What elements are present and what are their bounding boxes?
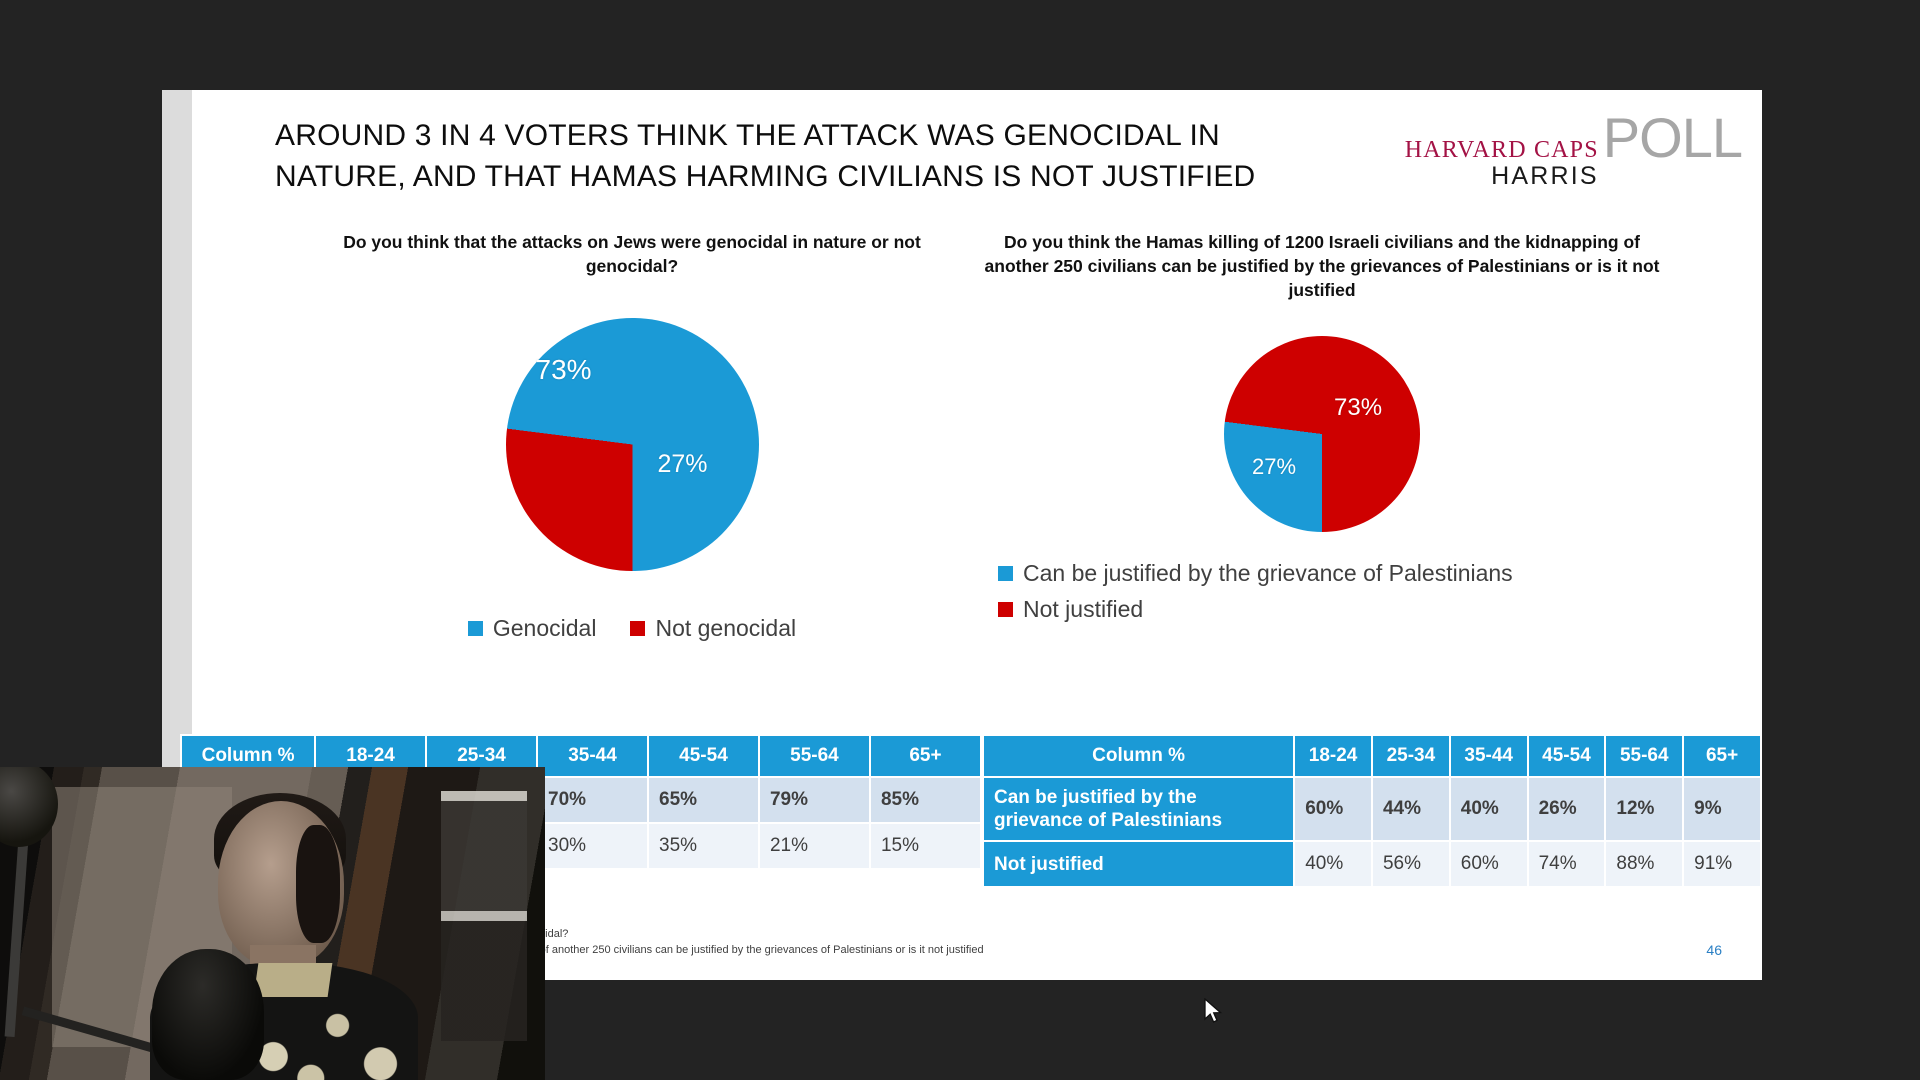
table-cell: 91% — [1683, 841, 1761, 887]
webcam-person-collar — [254, 963, 333, 997]
table-cell: 60% — [1450, 841, 1528, 887]
webcam-video-overlay[interactable] — [0, 767, 545, 1080]
table-header-18-24: 18-24 — [1294, 735, 1372, 777]
pie-slice-label-not-genocidal: 27% — [658, 450, 708, 479]
table-header-65-plus: 65+ — [1683, 735, 1761, 777]
pie-slice-label-not-justified: 73% — [1334, 394, 1382, 422]
legend-label-genocidal: Genocidal — [493, 615, 597, 642]
logo-poll-text: POLL — [1603, 112, 1742, 164]
table-cell: 30% — [537, 823, 648, 869]
page-title: AROUND 3 IN 4 VOTERS THINK THE ATTACK WA… — [275, 115, 1335, 197]
table-cell: 40% — [1294, 841, 1372, 887]
table-cell: 85% — [870, 777, 981, 823]
table-cell: 60% — [1294, 777, 1372, 841]
legend-swatch-red-icon — [630, 621, 645, 636]
harvard-caps-harris-poll-logo: HARVARD CAPS HARRIS POLL — [1405, 112, 1742, 191]
table-header-column-pct: Column % — [983, 735, 1294, 777]
logo-harris-text: HARRIS — [1491, 162, 1599, 191]
legend-swatch-red-icon — [998, 602, 1013, 617]
table-header-45-54: 45-54 — [648, 735, 759, 777]
table-cell: 70% — [537, 777, 648, 823]
legend-swatch-blue-icon — [468, 621, 483, 636]
table-cell: 26% — [1528, 777, 1606, 841]
table-cell-rowlabel: Not justified — [983, 841, 1294, 887]
table-header-25-34: 25-34 — [1372, 735, 1450, 777]
table-cell: 15% — [870, 823, 981, 869]
legend-item-can-be-justified[interactable]: Can be justified by the grievance of Pal… — [998, 560, 1672, 587]
slide-page-number: 46 — [1706, 942, 1722, 958]
table-row: Not justified 40% 56% 60% 74% 88% 91% — [983, 841, 1761, 887]
breakdown-table-justified: Column % 18-24 25-34 35-44 45-54 55-64 6… — [982, 734, 1762, 888]
pie-genocidal-graphic: 73% 27% — [506, 318, 759, 571]
legend-label-not-justified: Not justified — [1023, 596, 1143, 623]
chart-question-genocidal: Do you think that the attacks on Jews we… — [302, 230, 962, 278]
webcam-microphone — [152, 949, 264, 1080]
logo-harvard-caps-text: HARVARD CAPS — [1405, 137, 1599, 164]
legend-genocidal: Genocidal Not genocidal — [302, 615, 962, 642]
table-header-45-54: 45-54 — [1528, 735, 1606, 777]
table-cell: 9% — [1683, 777, 1761, 841]
table-header-row: Column % 18-24 25-34 35-44 45-54 55-64 6… — [983, 735, 1761, 777]
legend-item-not-justified[interactable]: Not justified — [998, 596, 1672, 623]
table-header-65-plus: 65+ — [870, 735, 981, 777]
chart-question-justified: Do you think the Hamas killing of 1200 I… — [972, 230, 1672, 302]
table-header-55-64: 55-64 — [759, 735, 870, 777]
chart-panel-justified: Do you think the Hamas killing of 1200 I… — [972, 230, 1672, 623]
table-cell: 56% — [1372, 841, 1450, 887]
table-cell: 79% — [759, 777, 870, 823]
table-cell: 21% — [759, 823, 870, 869]
pie-chart-genocidal: 73% 27% — [302, 318, 962, 571]
mouse-cursor-icon — [1204, 998, 1224, 1031]
pie-chart-justified: 73% 27% — [972, 336, 1672, 532]
table-cell: 12% — [1605, 777, 1683, 841]
table-header-35-44: 35-44 — [1450, 735, 1528, 777]
screen: AROUND 3 IN 4 VOTERS THINK THE ATTACK WA… — [0, 0, 1920, 1080]
webcam-person-hair-back — [296, 825, 340, 943]
webcam-shelf — [441, 791, 527, 1041]
table-cell: 35% — [648, 823, 759, 869]
table-header-35-44: 35-44 — [537, 735, 648, 777]
legend-item-genocidal[interactable]: Genocidal — [468, 615, 597, 642]
legend-justified: Can be justified by the grievance of Pal… — [998, 560, 1672, 623]
pie-slice-label-genocidal: 73% — [536, 354, 592, 386]
table-row: Can be justified by the grievance of Pal… — [983, 777, 1761, 841]
chart-panel-genocidal: Do you think that the attacks on Jews we… — [302, 230, 962, 642]
pie-slice-label-can-be-justified: 27% — [1252, 454, 1296, 480]
legend-label-can-be-justified: Can be justified by the grievance of Pal… — [1023, 560, 1513, 587]
table-cell: 88% — [1605, 841, 1683, 887]
legend-item-not-genocidal[interactable]: Not genocidal — [630, 615, 796, 642]
table-cell-rowlabel: Can be justified by the grievance of Pal… — [983, 777, 1294, 841]
legend-label-not-genocidal: Not genocidal — [655, 615, 796, 642]
table-cell: 44% — [1372, 777, 1450, 841]
table-cell: 65% — [648, 777, 759, 823]
legend-swatch-blue-icon — [998, 566, 1013, 581]
table-cell: 74% — [1528, 841, 1606, 887]
table-cell: 40% — [1450, 777, 1528, 841]
table-header-55-64: 55-64 — [1605, 735, 1683, 777]
pie-justified-graphic: 73% 27% — [1224, 336, 1420, 532]
